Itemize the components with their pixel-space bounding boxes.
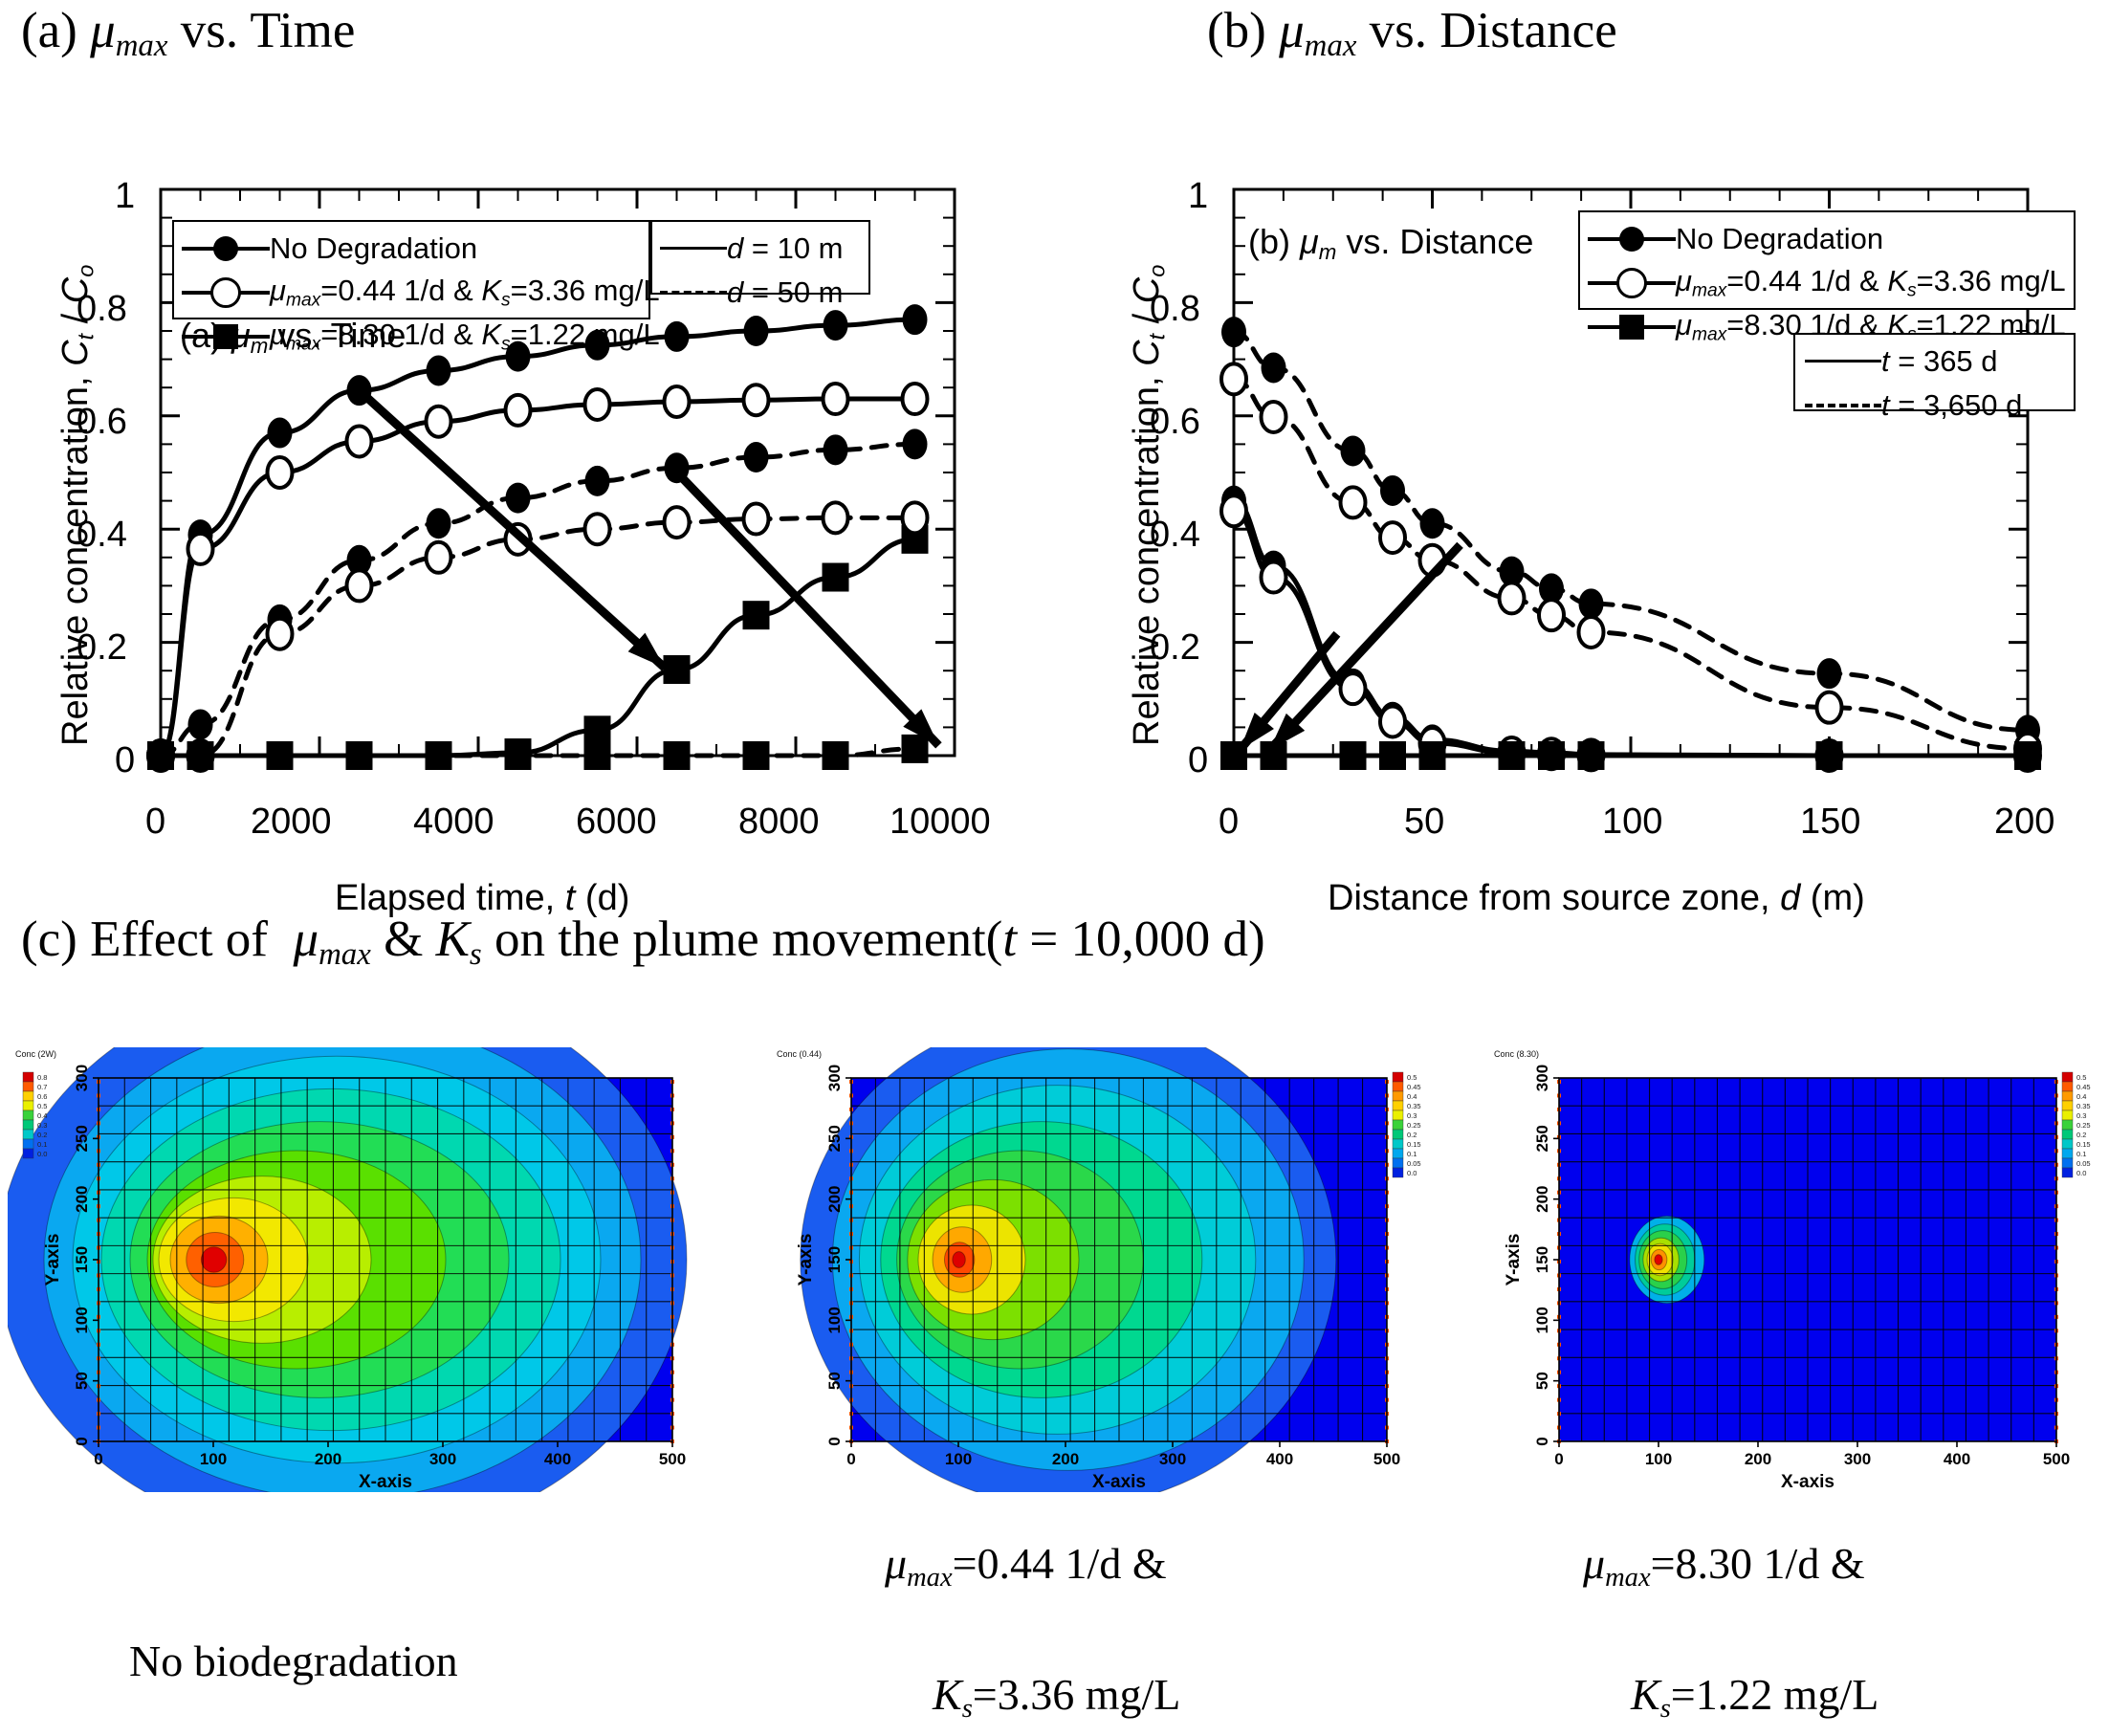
- svg-text:300: 300: [429, 1450, 456, 1468]
- legend-item-d10[interactable]: d = 10 m: [660, 227, 861, 271]
- legend-item-no-degradation[interactable]: No Degradation: [1588, 217, 2066, 261]
- svg-text:0.35: 0.35: [2076, 1102, 2091, 1110]
- filled-square-marker-icon: [1588, 305, 1676, 349]
- svg-text:0.3: 0.3: [1407, 1111, 1417, 1120]
- svg-text:X-axis: X-axis: [1092, 1472, 1146, 1492]
- legend-label: μmax=0.44 1/d & Ks=3.36 mg/L: [1676, 264, 2066, 301]
- svg-text:0.1: 0.1: [1407, 1150, 1417, 1158]
- svg-text:150: 150: [825, 1246, 844, 1273]
- dashed-line-icon: [1805, 384, 1881, 428]
- svg-text:0.45: 0.45: [2076, 1083, 2091, 1091]
- svg-text:250: 250: [1533, 1125, 1551, 1152]
- svg-text:200: 200: [1533, 1185, 1551, 1212]
- svg-text:100: 100: [825, 1307, 844, 1333]
- legend-item-mu830[interactable]: μmax=8.30 1/d & Ks=1.22 mg/L: [182, 315, 641, 359]
- svg-text:200: 200: [1052, 1450, 1079, 1468]
- legend-item-d50[interactable]: d = 50 m: [660, 271, 861, 315]
- panel-b: Relative concentration, Ct / Co 1 0.8 0.…: [1071, 77, 2109, 870]
- legend-label: t = 365 d: [1881, 344, 1998, 379]
- dashed-line-icon: [660, 271, 727, 315]
- svg-text:Y-axis: Y-axis: [43, 1234, 63, 1286]
- svg-text:0.0: 0.0: [2076, 1169, 2086, 1177]
- svg-text:Y-axis: Y-axis: [796, 1234, 816, 1286]
- svg-text:X-axis: X-axis: [1781, 1472, 1834, 1492]
- filled-circle-marker-icon: [1588, 217, 1676, 261]
- svg-text:0.25: 0.25: [1407, 1121, 1421, 1130]
- svg-text:400: 400: [1944, 1450, 1970, 1468]
- svg-text:300: 300: [1533, 1065, 1551, 1091]
- svg-text:300: 300: [1844, 1450, 1871, 1468]
- legend-label: No Degradation: [1676, 222, 1883, 256]
- svg-text:0: 0: [94, 1450, 102, 1468]
- svg-text:150: 150: [73, 1246, 91, 1273]
- contour-plot-1: 0100200300400500050100150200250300X-axis…: [8, 1047, 715, 1492]
- svg-text:0.5: 0.5: [37, 1102, 47, 1110]
- svg-text:500: 500: [659, 1450, 686, 1468]
- panel-a-caption: (a) μmax vs. Time: [21, 2, 355, 64]
- legend-label: μmax=8.30 1/d & Ks=1.22 mg/L: [270, 318, 660, 355]
- legend-label: d = 10 m: [727, 231, 844, 266]
- panel-a-legend-linestyle[interactable]: d = 10 m d = 50 m: [650, 220, 870, 295]
- panel-a-legend-series[interactable]: No Degradation μmax=0.44 1/d & Ks=3.36 m…: [172, 220, 650, 319]
- svg-text:200: 200: [1745, 1450, 1771, 1468]
- panel-b-caption: (b) μmax vs. Distance: [1207, 2, 1617, 64]
- caption-mu830-line1: μmax=8.30 1/d &: [1583, 1538, 1865, 1593]
- svg-text:400: 400: [544, 1450, 571, 1468]
- svg-text:250: 250: [825, 1125, 844, 1152]
- contour-panel-no-biodegradation: Conc (2W) 010020030040050005010015020025…: [8, 1047, 715, 1492]
- svg-text:0.0: 0.0: [1407, 1169, 1417, 1177]
- colorbar-title: Conc (0.44): [777, 1049, 822, 1059]
- svg-text:0: 0: [1554, 1450, 1563, 1468]
- filled-circle-marker-icon: [182, 227, 270, 271]
- panel-b-x-axis-title: Distance from source zone, d (m): [1328, 878, 1865, 919]
- svg-text:0.0: 0.0: [37, 1150, 47, 1158]
- svg-text:0: 0: [73, 1437, 91, 1445]
- solid-line-icon: [1805, 340, 1881, 384]
- svg-text:500: 500: [2043, 1450, 2070, 1468]
- svg-text:0: 0: [846, 1450, 855, 1468]
- svg-text:0.2: 0.2: [1407, 1131, 1417, 1139]
- svg-text:X-axis: X-axis: [359, 1472, 412, 1492]
- svg-text:250: 250: [73, 1125, 91, 1152]
- panel-a: Relative concentration, Ct / Co 1 0.8 0.…: [0, 77, 1033, 870]
- svg-text:0.7: 0.7: [37, 1083, 47, 1091]
- svg-text:400: 400: [1266, 1450, 1293, 1468]
- legend-item-mu044[interactable]: μmax=0.44 1/d & Ks=3.36 mg/L: [1588, 261, 2066, 305]
- svg-text:100: 100: [1645, 1450, 1672, 1468]
- panel-b-inner-label: (b) μm vs. Distance: [1248, 222, 1533, 265]
- svg-text:0.15: 0.15: [2076, 1140, 2091, 1149]
- solid-line-icon: [660, 227, 727, 271]
- svg-text:0.1: 0.1: [2076, 1150, 2086, 1158]
- svg-text:0.35: 0.35: [1407, 1102, 1421, 1110]
- svg-text:50: 50: [73, 1372, 91, 1390]
- svg-text:300: 300: [825, 1065, 844, 1091]
- svg-text:0.1: 0.1: [37, 1140, 47, 1149]
- svg-text:50: 50: [1533, 1372, 1551, 1390]
- svg-text:300: 300: [1159, 1450, 1186, 1468]
- colorbar-title: Conc (8.30): [1494, 1049, 1539, 1059]
- svg-text:200: 200: [825, 1185, 844, 1212]
- panel-a-plot: [0, 77, 1033, 870]
- svg-text:0.05: 0.05: [1407, 1159, 1421, 1168]
- svg-text:300: 300: [73, 1065, 91, 1091]
- svg-text:0.5: 0.5: [2076, 1073, 2086, 1082]
- legend-label: d = 50 m: [727, 275, 844, 310]
- caption-no-biodegradation: No biodegradation: [129, 1636, 458, 1686]
- svg-text:0.25: 0.25: [2076, 1121, 2091, 1130]
- svg-text:0.2: 0.2: [2076, 1131, 2086, 1139]
- svg-text:100: 100: [1533, 1307, 1551, 1333]
- contour-plot-3: 0100200300400500050100150200250300X-axis…: [1492, 1047, 2104, 1492]
- panel-b-legend-series[interactable]: No Degradation μmax=0.44 1/d & Ks=3.36 m…: [1578, 210, 2076, 310]
- caption-mu830-line2: Ks=1.22 mg/L: [1631, 1669, 1878, 1725]
- legend-label: t = 3,650 d: [1881, 388, 2022, 423]
- svg-text:0.3: 0.3: [2076, 1111, 2086, 1120]
- open-circle-marker-icon: [182, 271, 270, 315]
- svg-text:0.6: 0.6: [37, 1092, 47, 1101]
- svg-text:0.05: 0.05: [2076, 1159, 2091, 1168]
- open-circle-marker-icon: [1588, 261, 1676, 305]
- legend-label: μmax=0.44 1/d & Ks=3.36 mg/L: [270, 274, 660, 311]
- svg-text:0.3: 0.3: [37, 1121, 47, 1130]
- svg-text:0.4: 0.4: [1407, 1092, 1417, 1101]
- svg-text:100: 100: [945, 1450, 972, 1468]
- filled-square-marker-icon: [182, 315, 270, 359]
- svg-text:50: 50: [825, 1372, 844, 1390]
- svg-text:200: 200: [315, 1450, 341, 1468]
- legend-item-no-degradation[interactable]: No Degradation: [182, 227, 641, 271]
- panel-b-plot: [1071, 77, 2109, 870]
- svg-text:150: 150: [1533, 1246, 1551, 1273]
- legend-label: No Degradation: [270, 231, 477, 266]
- panel-c-caption: (c) Effect of μmax & Ks on the plume mov…: [21, 911, 1265, 973]
- svg-text:500: 500: [1373, 1450, 1400, 1468]
- legend-item-t365[interactable]: t = 365 d: [1805, 340, 2064, 384]
- svg-text:0.8: 0.8: [37, 1073, 47, 1082]
- svg-text:200: 200: [73, 1185, 91, 1212]
- svg-text:0: 0: [825, 1437, 844, 1445]
- svg-text:0.4: 0.4: [2076, 1092, 2086, 1101]
- caption-mu044-line2: Ks=3.36 mg/L: [933, 1669, 1180, 1725]
- caption-mu044-line1: μmax=0.44 1/d &: [885, 1538, 1167, 1593]
- colorbar-title: Conc (2W): [15, 1049, 56, 1059]
- panel-b-legend-linestyle[interactable]: t = 365 d t = 3,650 d: [1793, 333, 2076, 411]
- svg-text:0.5: 0.5: [1407, 1073, 1417, 1082]
- contour-panel-mu830: Conc (8.30) 0100200300400500050100150200…: [1492, 1047, 2104, 1492]
- legend-item-t3650[interactable]: t = 3,650 d: [1805, 384, 2064, 428]
- svg-text:100: 100: [200, 1450, 227, 1468]
- svg-text:100: 100: [73, 1307, 91, 1333]
- svg-text:0: 0: [1533, 1437, 1551, 1445]
- svg-text:0.45: 0.45: [1407, 1083, 1421, 1091]
- legend-item-mu044[interactable]: μmax=0.44 1/d & Ks=3.36 mg/L: [182, 271, 641, 315]
- svg-text:0.4: 0.4: [37, 1111, 47, 1120]
- svg-text:0.15: 0.15: [1407, 1140, 1421, 1149]
- contour-panel-mu044: Conc (0.44) 0100200300400500050100150200…: [775, 1047, 1444, 1492]
- svg-text:Y-axis: Y-axis: [1504, 1234, 1524, 1286]
- contour-plot-2: 0100200300400500050100150200250300X-axis…: [775, 1047, 1444, 1492]
- svg-text:0.2: 0.2: [37, 1131, 47, 1139]
